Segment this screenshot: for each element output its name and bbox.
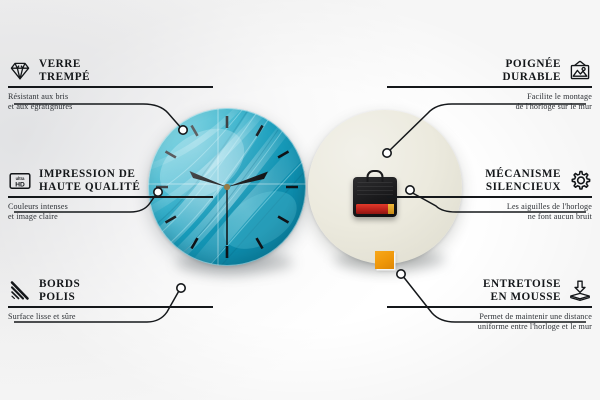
feature-desc: Couleurs intenses et image claire [8, 202, 213, 222]
feature-desc: Surface lisse et sûre [8, 312, 213, 322]
feature-title: ENTRETOISE EN MOUSSE [483, 278, 561, 303]
divider [387, 306, 592, 308]
feature-title: BORDS POLIS [39, 278, 80, 303]
feature-title: POIGNÉE DURABLE [502, 58, 561, 83]
divider [387, 86, 592, 88]
feature-desc: Résistant aux bris et aux égratignures [8, 92, 213, 112]
infographic-canvas: VERRE TREMPÉ Résistant aux bris et aux é… [0, 0, 600, 400]
framed-picture-hanger-icon [568, 59, 592, 83]
divider [8, 306, 213, 308]
feature-entretoise-en-mousse: ENTRETOISE EN MOUSSE Permet de maintenir… [387, 278, 592, 332]
feature-desc: Permet de maintenir une distance uniform… [387, 312, 592, 332]
feature-title: VERRE TREMPÉ [39, 58, 90, 83]
ultra-hd-icon: ultra HD [8, 169, 32, 193]
diamond-icon [8, 59, 32, 83]
feature-desc: Les aiguilles de l'horloge ne font aucun… [387, 202, 592, 222]
divider [8, 86, 213, 88]
svg-text:HD: HD [15, 181, 25, 188]
feature-bords-polis: BORDS POLIS Surface lisse et sûre [8, 278, 213, 322]
feature-impression-haute-qualite: ultra HD IMPRESSION DE HAUTE QUALITÉ Cou… [8, 168, 213, 222]
divider [8, 196, 213, 198]
feature-title: IMPRESSION DE HAUTE QUALITÉ [39, 168, 140, 193]
feature-desc: Facilite le montage de l'horloge sur le … [387, 92, 592, 112]
feature-poignee-durable: POIGNÉE DURABLE Facilite le montage de l… [387, 58, 592, 112]
divider [387, 196, 592, 198]
gear-icon [568, 169, 592, 193]
feature-mecanisme-silencieux: MÉCANISME SILENCIEUX Les aiguilles de l'… [387, 168, 592, 222]
feature-verre-trempe: VERRE TREMPÉ Résistant aux bris et aux é… [8, 58, 213, 112]
arrow-onto-pad-icon [568, 279, 592, 303]
feature-title: MÉCANISME SILENCIEUX [485, 168, 561, 193]
diagonal-stripes-icon [8, 279, 32, 303]
